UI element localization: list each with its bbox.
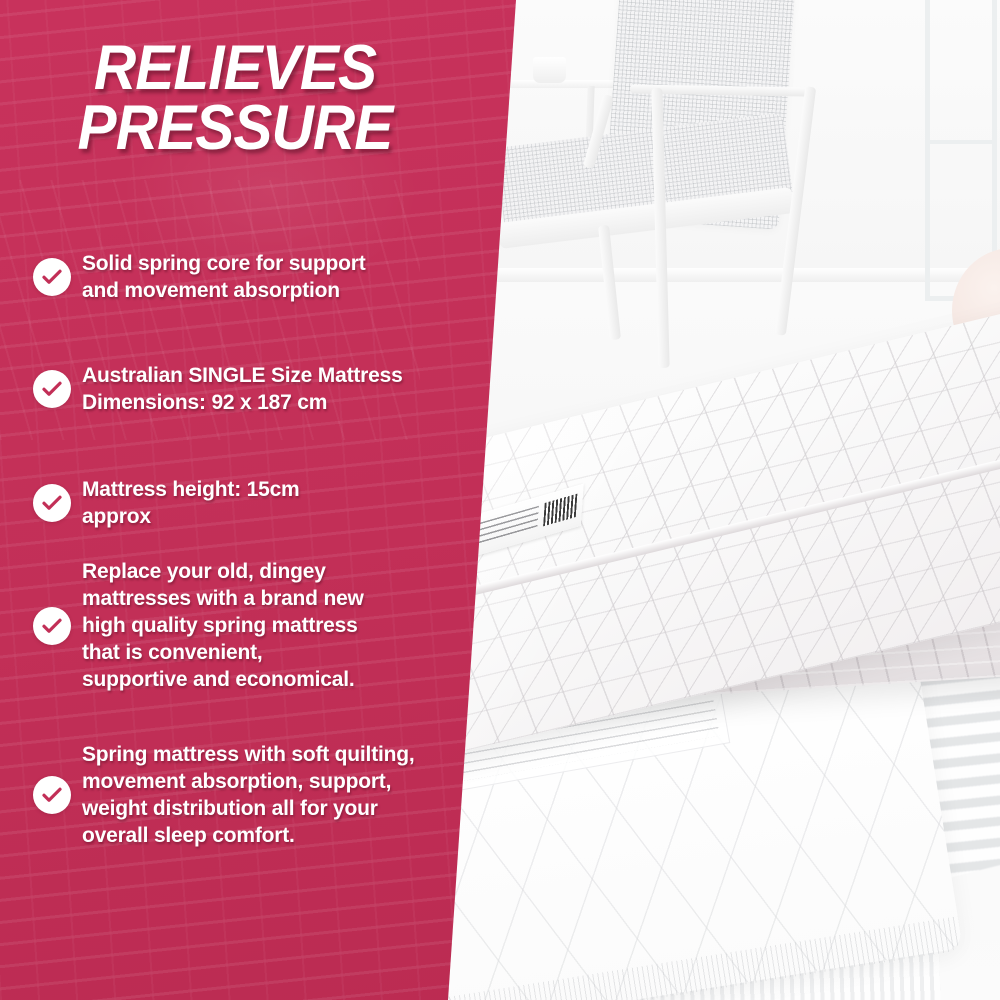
headline: RELIEVES PRESSURE: [16, 38, 453, 159]
bullet-text: Solid spring core for support and moveme…: [82, 250, 366, 304]
headline-line-2: PRESSURE: [16, 98, 453, 158]
check-circle-icon: [33, 484, 71, 522]
bullet-text: Spring mattress with soft quilting, move…: [82, 741, 415, 849]
window-frame: [925, 140, 997, 144]
check-circle-icon: [33, 776, 71, 814]
product-marketing-image: palermo SLEEP RELIEVES: [0, 0, 1000, 1000]
check-circle-icon: [33, 607, 71, 645]
check-circle-icon: [33, 370, 71, 408]
bullet-item: Solid spring core for support and moveme…: [0, 250, 470, 304]
bullet-item: Replace your old, dingey mattresses with…: [0, 558, 470, 693]
check-circle-icon: [33, 258, 71, 296]
barcode-icon: [543, 494, 577, 527]
feature-bullet-list: Solid spring core for support and moveme…: [0, 250, 470, 859]
bullet-item: Mattress height: 15cm approx: [0, 476, 470, 530]
bullet-item: Spring mattress with soft quilting, move…: [0, 741, 470, 849]
bullet-text: Mattress height: 15cm approx: [82, 476, 300, 530]
window-frame: [925, 0, 930, 300]
bullet-text: Replace your old, dingey mattresses with…: [82, 558, 364, 693]
bullet-text: Australian SINGLE Size Mattress Dimensio…: [82, 362, 403, 416]
bullet-item: Australian SINGLE Size Mattress Dimensio…: [0, 362, 470, 416]
cup: [533, 57, 566, 83]
